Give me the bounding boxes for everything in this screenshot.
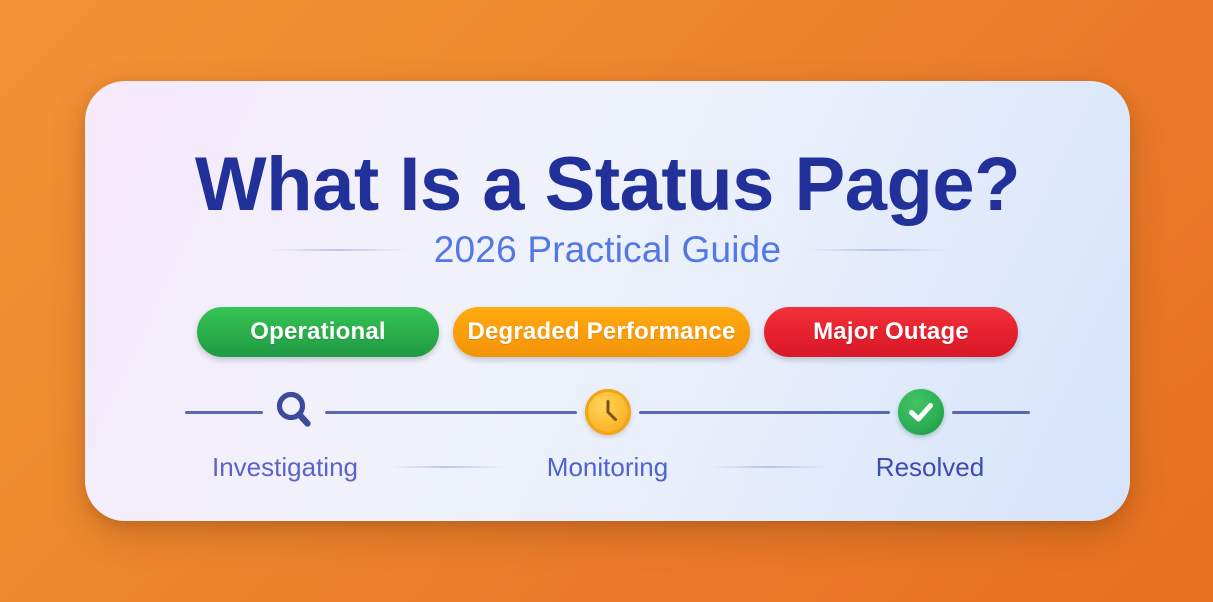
status-page-card: What Is a Status Page? 2026 Practical Gu… [85, 81, 1130, 521]
page-title: What Is a Status Page? [85, 141, 1130, 228]
timeline-connector-2 [639, 411, 891, 414]
status-badge-group: Operational Degraded Performance Major O… [85, 307, 1130, 357]
subtitle-rule-right [807, 249, 945, 251]
timeline-step-investigating[interactable] [263, 382, 325, 442]
timeline-label-rule-1 [389, 466, 504, 468]
timeline-label-row: Investigating Monitoring Resolved [185, 442, 1030, 492]
timeline-icon-row [185, 382, 1030, 442]
clock-icon [585, 389, 631, 435]
timeline-connector-1 [325, 411, 577, 414]
timeline-label-monitoring: Monitoring [508, 452, 708, 483]
timeline-label-rule-2 [712, 466, 827, 468]
magnifier-icon [271, 387, 317, 438]
badge-major-outage[interactable]: Major Outage [764, 307, 1018, 357]
timeline-label-resolved: Resolved [830, 452, 1030, 483]
page-subtitle: 2026 Practical Guide [434, 229, 781, 271]
badge-degraded-performance[interactable]: Degraded Performance [453, 307, 750, 357]
timeline-connector-end [952, 411, 1030, 414]
timeline-step-resolved[interactable] [890, 382, 952, 442]
check-circle-icon [898, 389, 944, 435]
timeline-step-monitoring[interactable] [577, 382, 639, 442]
badge-operational[interactable]: Operational [197, 307, 439, 357]
timeline-connector-start [185, 411, 263, 414]
timeline-label-investigating: Investigating [185, 452, 385, 483]
subtitle-rule-left [270, 249, 408, 251]
incident-timeline: Investigating Monitoring Resolved [85, 382, 1130, 492]
subtitle-row: 2026 Practical Guide [85, 229, 1130, 271]
